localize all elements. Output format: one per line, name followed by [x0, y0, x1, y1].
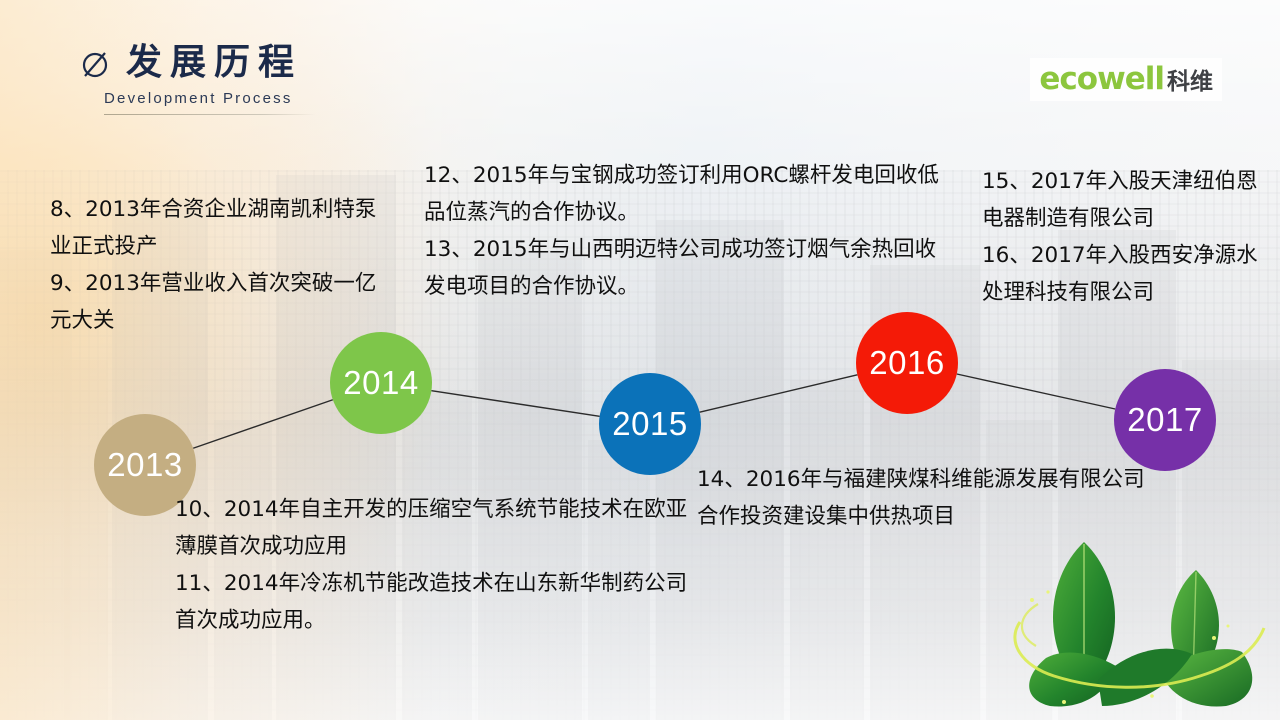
connector-line	[431, 391, 599, 417]
milestone-block-2014: 10、2014年自主开发的压缩空气系统节能技术在欧亚薄膜首次成功应用 11、20…	[175, 492, 695, 640]
green-leaves-icon	[1002, 530, 1272, 720]
timeline-node-2014[interactable]: 2014	[330, 332, 432, 434]
timeline-node-2017[interactable]: 2017	[1114, 369, 1216, 471]
timeline-node-2015[interactable]: 2015	[599, 373, 701, 475]
timeline-node-2016[interactable]: 2016	[856, 312, 958, 414]
milestone-block-2015: 12、2015年与宝钢成功签订利用ORC螺杆发电回收低品位蒸汽的合作协议。 13…	[424, 158, 944, 306]
milestone-block-2016: 14、2016年与福建陕煤科维能源发展有限公司合作投资建设集中供热项目	[697, 462, 1157, 536]
slide-canvas: 发展历程 Development Process ecowell 科维 2013…	[0, 0, 1280, 720]
milestone-block-2017: 15、2017年入股天津纽伯恩电器制造有限公司 16、2017年入股西安净源水处…	[982, 164, 1272, 312]
connector-line	[193, 400, 333, 449]
connector-line	[700, 375, 858, 412]
milestone-block-2013: 8、2013年合资企业湖南凯利特泵业正式投产 9、2013年营业收入首次突破一亿…	[50, 192, 380, 340]
connector-line	[957, 374, 1115, 409]
